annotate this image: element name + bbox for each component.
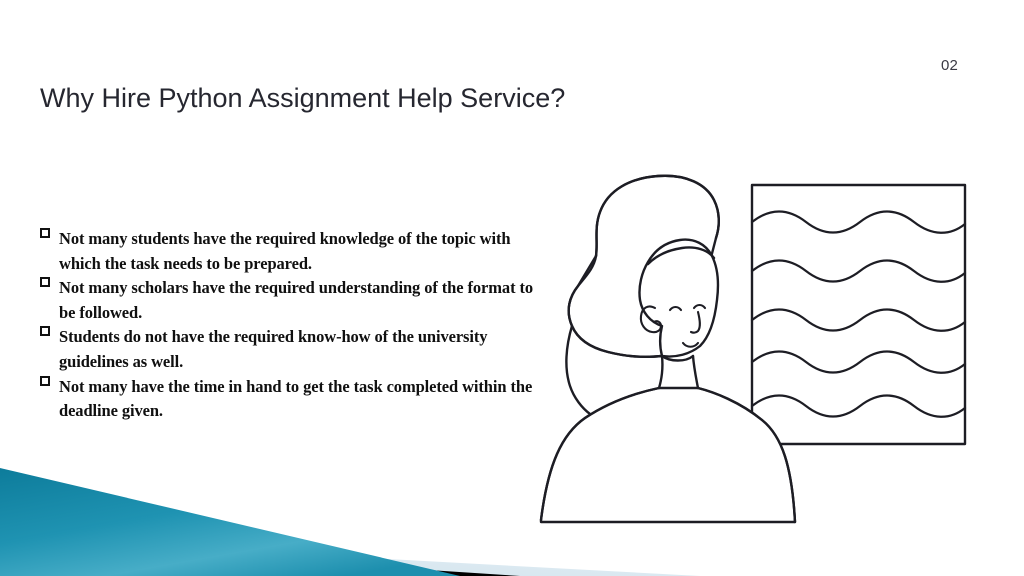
eye-right (694, 305, 705, 308)
list-item-label: Not many have the time in hand to get th… (59, 375, 540, 424)
list-item-label: Students do not have the required know-h… (59, 325, 540, 374)
eye-left (670, 307, 681, 310)
neck-left-line (659, 356, 662, 388)
hair-shape (569, 176, 719, 357)
wave-line-1 (752, 212, 965, 233)
page-number: 02 (941, 58, 1001, 73)
wavy-lines-board-frame (752, 185, 965, 444)
hollow-square-bullet-icon (40, 277, 50, 287)
bullet-list: Not many students have the required know… (40, 227, 540, 424)
hollow-square-bullet-icon (40, 326, 50, 336)
page-title: Why Hire Python Assignment Help Service? (40, 82, 565, 114)
ear-icon (641, 306, 661, 332)
fringe-line (648, 247, 714, 264)
wave-line-5 (752, 396, 965, 417)
hair-tail-line (566, 326, 590, 414)
mouth-smile (683, 343, 698, 347)
list-item-label: Not many students have the required know… (59, 227, 540, 276)
list-item: Students do not have the required know-h… (40, 325, 540, 374)
hair-left-strand (569, 256, 662, 357)
slide-canvas: 02 Why Hire Python Assignment Help Servi… (0, 0, 1024, 576)
hollow-square-bullet-icon (40, 228, 50, 238)
face-shape (639, 240, 717, 357)
hair-top-line (596, 176, 719, 256)
wave-line-3 (752, 310, 965, 331)
wave-line-4 (752, 352, 965, 373)
bottom-left-corner-decoration (0, 446, 760, 576)
hollow-square-bullet-icon (40, 376, 50, 386)
list-item: Not many have the time in hand to get th… (40, 375, 540, 424)
list-item: Not many students have the required know… (40, 227, 540, 276)
list-item: Not many scholars have the required unde… (40, 276, 540, 325)
neck-right-line (693, 356, 698, 388)
nose (691, 312, 700, 333)
collar-line (662, 356, 693, 361)
list-item-label: Not many scholars have the required unde… (59, 276, 540, 325)
board-wave-lines (752, 212, 965, 417)
wave-line-2 (752, 261, 965, 282)
